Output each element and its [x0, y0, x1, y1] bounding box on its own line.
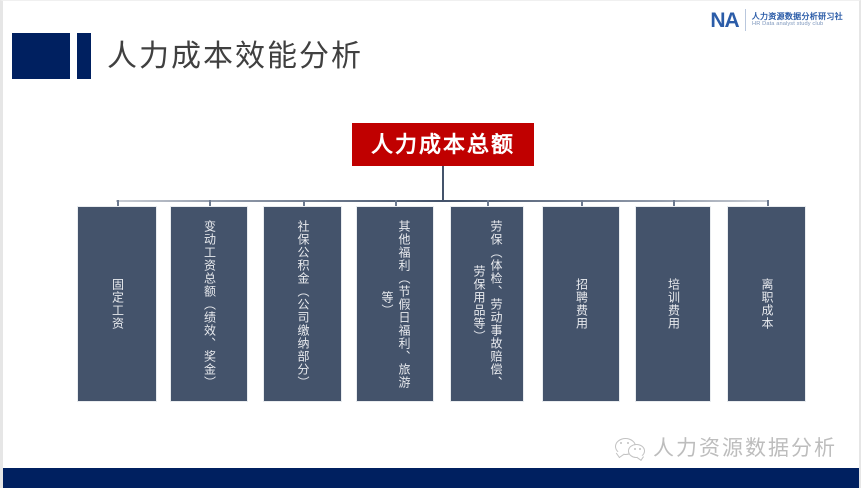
chart-node-6[interactable]: 招聘费用: [543, 207, 619, 401]
chart-node-1[interactable]: 固定工资: [78, 207, 156, 401]
connector-drop-4: [395, 200, 397, 207]
chart-node-label: 劳保（体检、劳动事故赔偿、劳保用品等）: [470, 214, 504, 394]
logo-divider: [745, 9, 746, 31]
logo-english-name: HR Data analyst study club: [752, 21, 839, 28]
chart-node-label: 固定工资: [108, 278, 125, 330]
wechat-bubbles-icon: [615, 436, 645, 460]
chart-node-label: 社保公积金（公司缴纳部分）: [294, 220, 311, 389]
chart-node-8[interactable]: 离职成本: [728, 207, 805, 401]
chart-node-label: 其他福利（节假日福利、旅游等）: [378, 213, 412, 395]
connector-drop-5: [487, 200, 489, 207]
chart-node-5[interactable]: 劳保（体检、劳动事故赔偿、劳保用品等）: [451, 207, 523, 401]
brand-logo: NA 人力资源数据分析研习社 HR Data analyst study clu…: [710, 9, 843, 31]
na-monogram-icon: NA: [710, 10, 738, 31]
connector-vertical-main: [442, 166, 444, 202]
chart-node-label: 培训费用: [664, 278, 681, 330]
page-title: 人力成本效能分析: [107, 37, 363, 77]
chart-node-label: 变动工资总额（绩效、奖金）: [200, 220, 217, 389]
connector-drop-1: [117, 200, 119, 207]
connector-drop-2: [209, 200, 211, 207]
connector-drop-7: [673, 200, 675, 207]
footer-brand: 人力资源数据分析: [615, 436, 837, 460]
header-accent-block-small: [77, 33, 91, 79]
root-node-human-cost-total[interactable]: 人力成本总额: [352, 123, 534, 166]
logo-text-group: 人力资源数据分析研习社 HR Data analyst study club: [752, 12, 843, 28]
root-node-label: 人力成本总额: [371, 134, 515, 156]
chart-node-label: 招聘费用: [572, 278, 589, 330]
header-accent-block-large: [12, 33, 70, 79]
connector-drop-6: [581, 200, 583, 207]
slide-canvas: NA 人力资源数据分析研习社 HR Data analyst study clu…: [0, 0, 861, 488]
chart-node-2[interactable]: 变动工资总额（绩效、奖金）: [171, 207, 247, 401]
connector-drop-8: [767, 200, 769, 207]
chart-node-4[interactable]: 其他福利（节假日福利、旅游等）: [357, 207, 433, 401]
chart-node-label: 离职成本: [758, 278, 775, 330]
footer-account-name: 人力资源数据分析: [653, 438, 837, 459]
connector-horizontal-bus: [116, 200, 767, 202]
bottom-bar: [3, 468, 861, 488]
chart-node-7[interactable]: 培训费用: [636, 207, 710, 401]
logo-chinese-name: 人力资源数据分析研习社: [752, 12, 843, 21]
chart-node-3[interactable]: 社保公积金（公司缴纳部分）: [264, 207, 341, 401]
connector-drop-3: [303, 200, 305, 207]
